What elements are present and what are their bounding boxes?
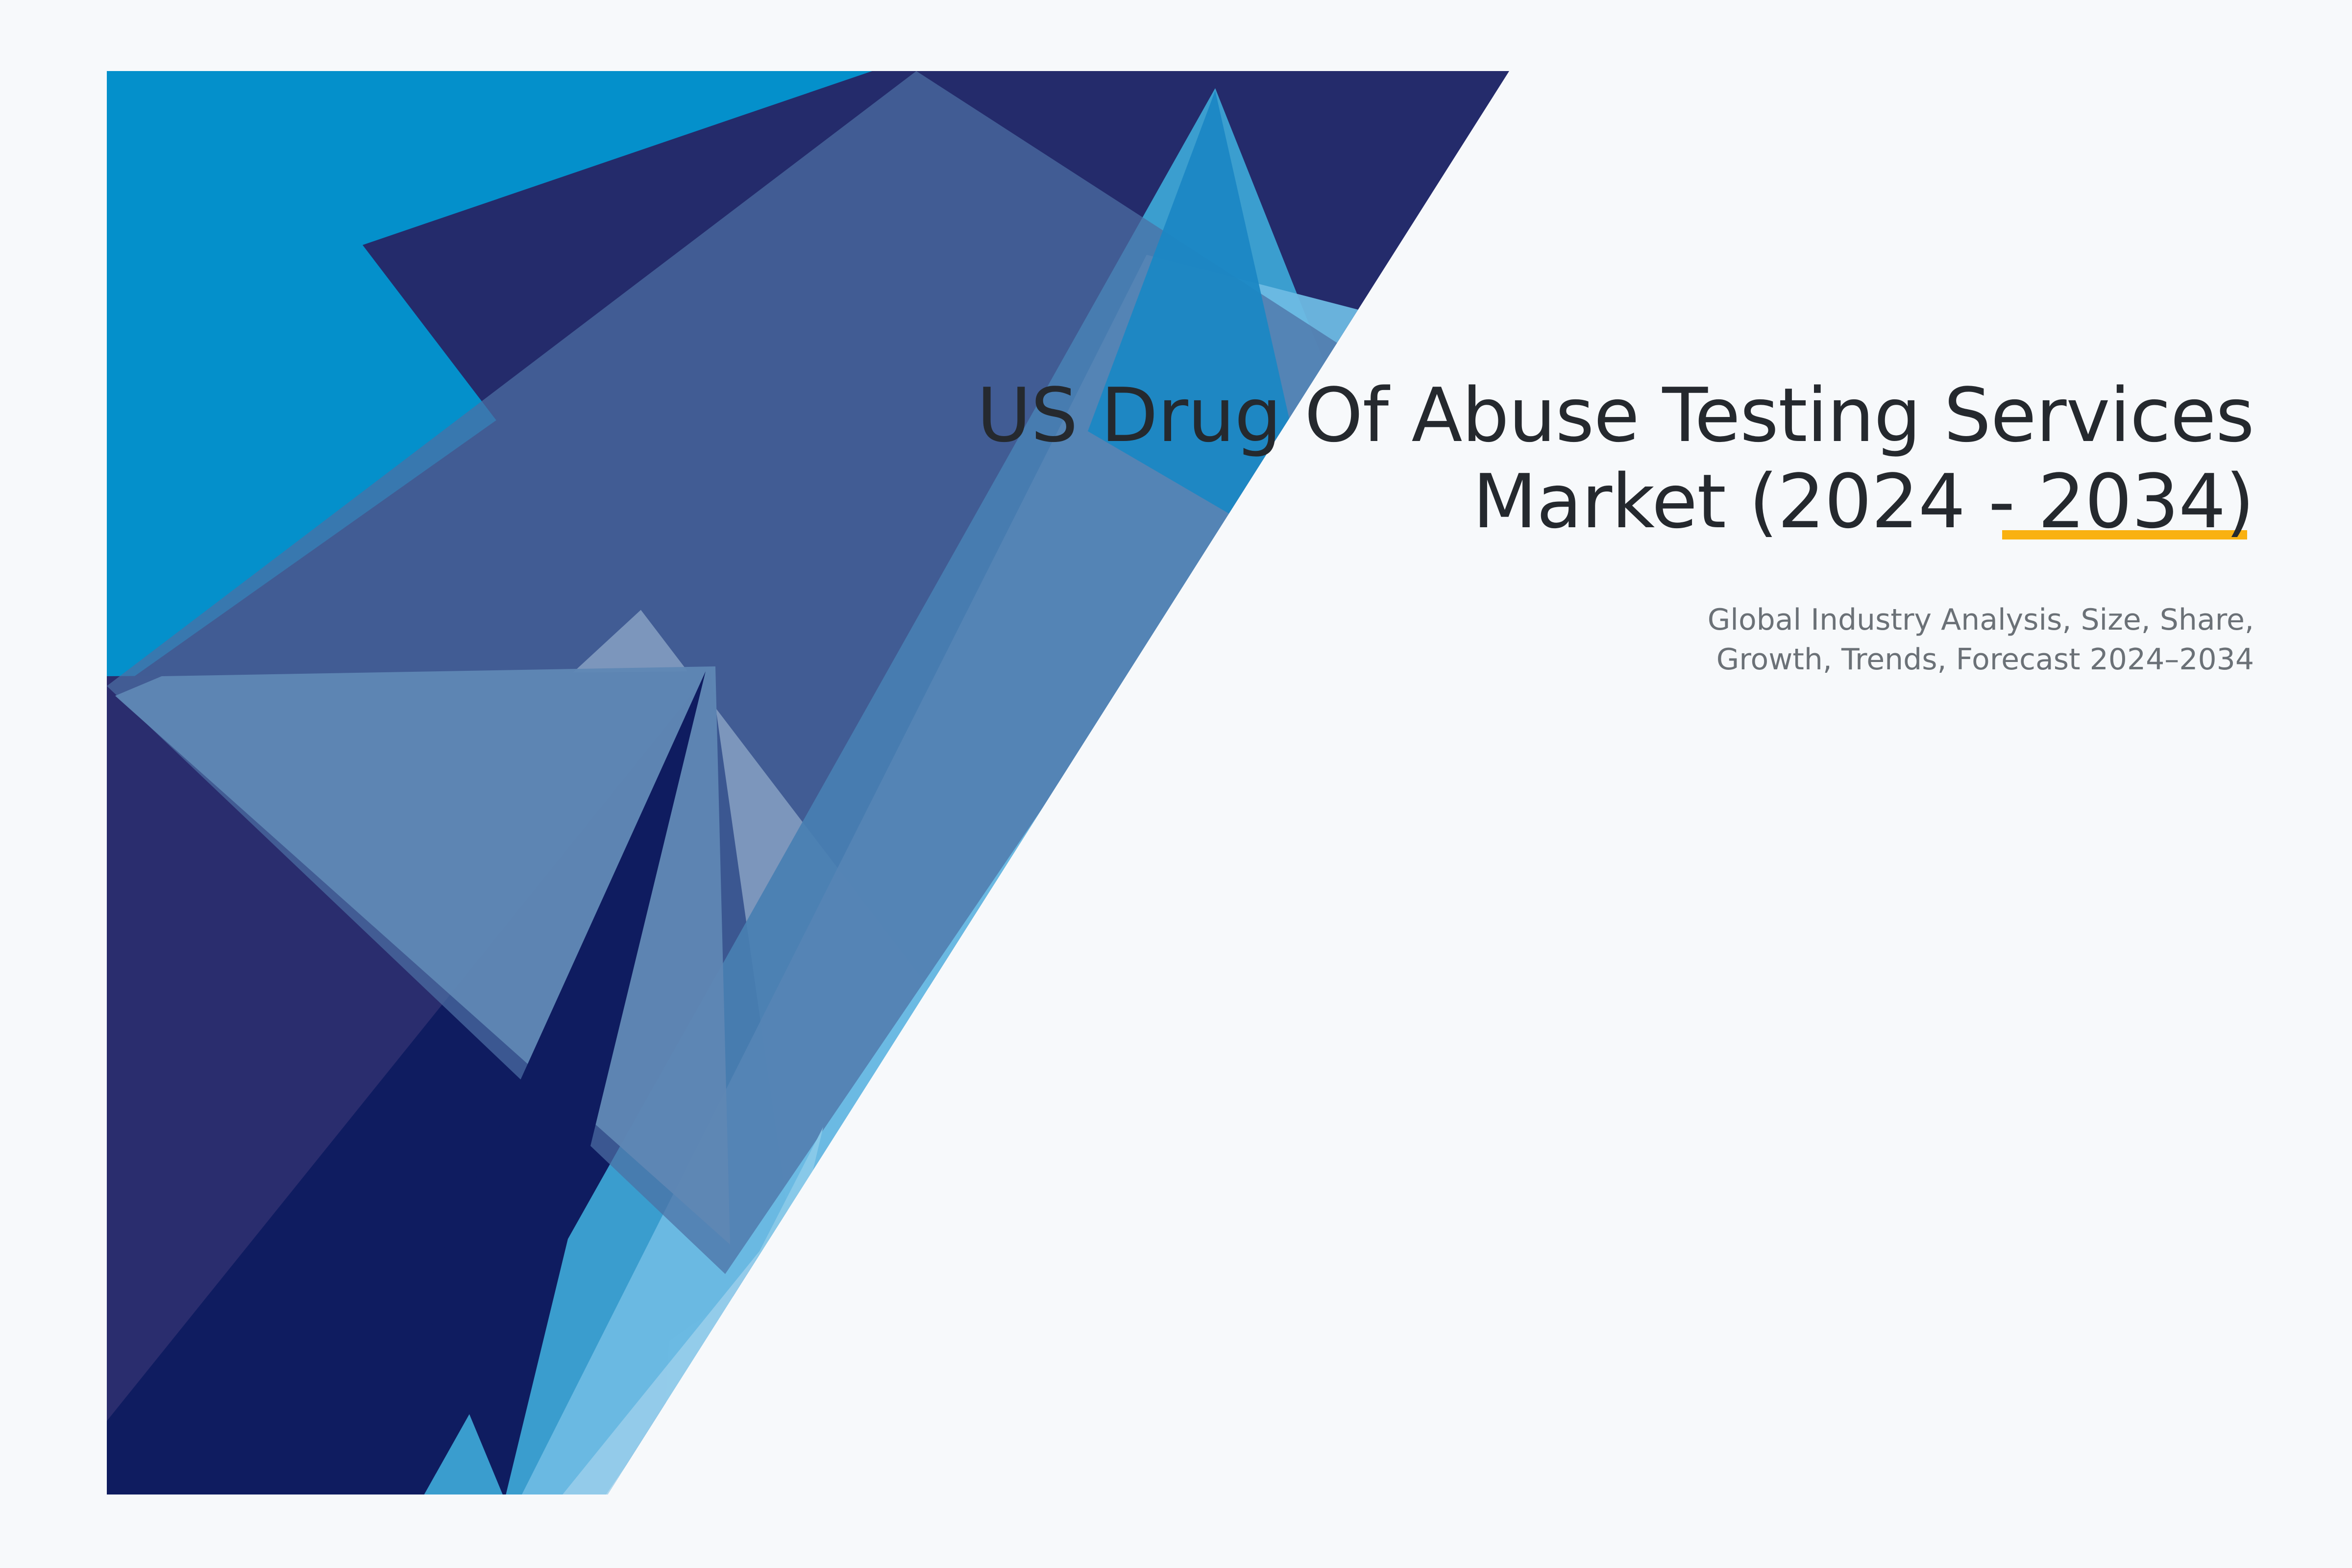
page-title-line2: Market (2024 - 2034) xyxy=(1472,458,2254,545)
page-subtitle-line2: Growth, Trends, Forecast 2024–2034 xyxy=(1716,642,2254,677)
report-cover: US Drug Of Abuse Testing ServicesMarket … xyxy=(0,0,2352,1568)
page-subtitle-line1: Global Industry Analysis, Size, Share, xyxy=(1708,603,2254,637)
title-wrap: US Drug Of Abuse Testing ServicesMarket … xyxy=(921,372,2254,545)
abstract-geometric-artwork xyxy=(0,0,2352,1568)
cover-text-block: US Drug Of Abuse Testing ServicesMarket … xyxy=(921,372,2254,680)
page-title: US Drug Of Abuse Testing ServicesMarket … xyxy=(921,372,2254,545)
page-title-line1: US Drug Of Abuse Testing Services xyxy=(977,372,2254,459)
page-subtitle: Global Industry Analysis, Size, Share,Gr… xyxy=(921,600,2254,680)
